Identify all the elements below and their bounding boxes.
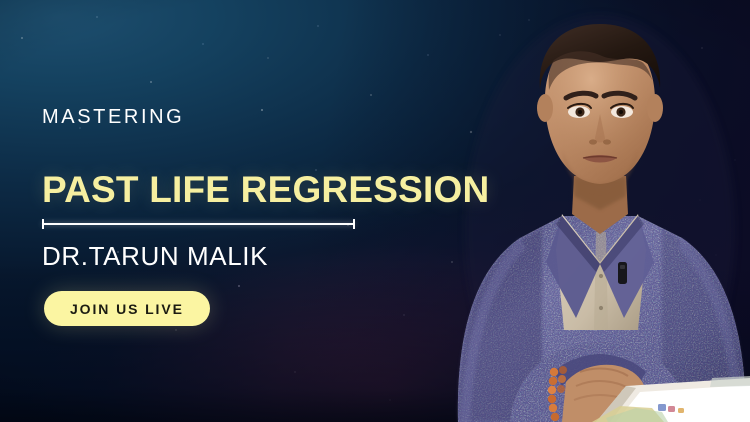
kicker-text: MASTERING: [42, 107, 184, 127]
book-on-desk: [592, 360, 750, 422]
presenter-name: DR.TARUN MALIK: [42, 243, 268, 269]
promo-banner: MASTERING PAST LIFE REGRESSION DR.TARUN …: [0, 0, 750, 422]
promo-copy: MASTERING PAST LIFE REGRESSION DR.TARUN …: [42, 0, 512, 422]
divider-bar: [42, 223, 355, 225]
page-title: PAST LIFE REGRESSION: [42, 171, 489, 208]
divider-cap-right: [353, 219, 355, 229]
divider: [42, 219, 355, 229]
join-us-live-button[interactable]: JOIN US LIVE: [44, 291, 210, 326]
